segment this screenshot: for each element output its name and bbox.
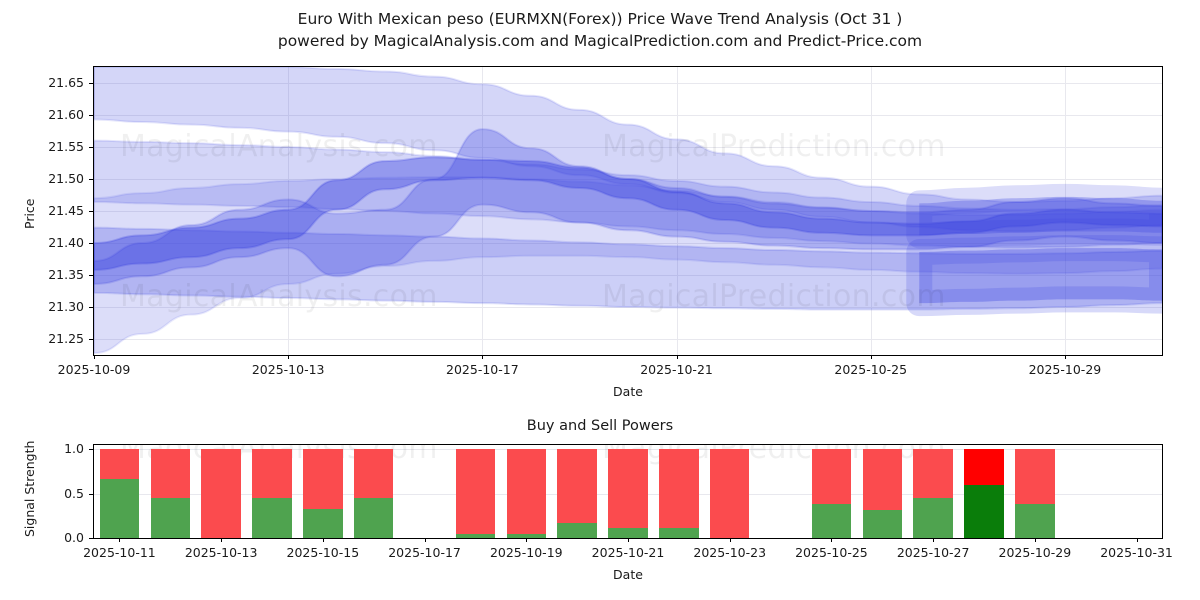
price-y-tick-mark bbox=[89, 147, 93, 148]
sell-power-segment bbox=[863, 449, 903, 509]
signal-bar[interactable] bbox=[100, 449, 140, 538]
sell-power-segment bbox=[913, 449, 953, 498]
buy-power-segment bbox=[354, 498, 394, 538]
price-y-tick-mark bbox=[89, 211, 93, 212]
signal-x-tick-mark bbox=[933, 538, 934, 542]
signal-x-tick-mark bbox=[221, 538, 222, 542]
signal-x-tick-label: 2025-10-15 bbox=[287, 545, 360, 560]
buy-power-segment bbox=[964, 485, 1004, 538]
price-x-tick-label: 2025-10-17 bbox=[446, 362, 519, 377]
signal-chart-title: Buy and Sell Powers bbox=[0, 418, 1200, 434]
buy-power-segment bbox=[812, 504, 852, 538]
signal-bar[interactable] bbox=[913, 449, 953, 538]
price-x-tick-mark bbox=[288, 355, 289, 359]
signal-bar[interactable] bbox=[252, 449, 292, 538]
page-title: Euro With Mexican peso (EURMXN(Forex)) P… bbox=[0, 8, 1200, 30]
sell-power-segment bbox=[507, 449, 547, 534]
price-y-tick-label: 21.65 bbox=[48, 75, 84, 90]
price-x-tick-label: 2025-10-29 bbox=[1029, 362, 1102, 377]
buy-power-segment bbox=[303, 509, 343, 538]
buy-power-segment bbox=[863, 510, 903, 538]
signal-x-tick-label: 2025-10-19 bbox=[490, 545, 563, 560]
price-wave-chart-plot-area: MagicalAnalysis.com MagicalPrediction.co… bbox=[93, 66, 1163, 356]
sell-power-segment bbox=[303, 449, 343, 508]
buy-power-segment bbox=[913, 498, 953, 538]
chart-title-block: Euro With Mexican peso (EURMXN(Forex)) P… bbox=[0, 8, 1200, 52]
sell-power-segment bbox=[710, 449, 750, 538]
price-y-tick-label: 21.55 bbox=[48, 139, 84, 154]
sell-power-segment bbox=[456, 449, 496, 534]
price-y-tick-label: 21.60 bbox=[48, 107, 84, 122]
signal-bar[interactable] bbox=[557, 449, 597, 538]
signal-y-tick-label: 1.0 bbox=[64, 441, 84, 456]
signal-bar[interactable] bbox=[710, 449, 750, 538]
signal-x-tick-mark bbox=[730, 538, 731, 542]
signal-x-tick-mark bbox=[119, 538, 120, 542]
price-y-tick-mark bbox=[89, 243, 93, 244]
sell-power-segment bbox=[1015, 449, 1055, 504]
price-y-tick-label: 21.30 bbox=[48, 299, 84, 314]
signal-x-tick-label: 2025-10-31 bbox=[1100, 545, 1173, 560]
price-x-axis-label: Date bbox=[613, 384, 643, 399]
price-x-tick-label: 2025-10-25 bbox=[834, 362, 907, 377]
price-y-tick-mark bbox=[89, 275, 93, 276]
signal-x-tick-mark bbox=[628, 538, 629, 542]
buy-power-segment bbox=[1015, 504, 1055, 538]
price-x-tick-mark bbox=[1065, 355, 1066, 359]
buy-power-segment bbox=[659, 528, 699, 538]
signal-bar[interactable] bbox=[812, 449, 852, 538]
price-x-tick-label: 2025-10-13 bbox=[252, 362, 325, 377]
buy-power-segment bbox=[608, 528, 648, 538]
signal-x-tick-mark bbox=[1035, 538, 1036, 542]
buy-power-segment bbox=[456, 534, 496, 538]
signal-x-tick-label: 2025-10-27 bbox=[897, 545, 970, 560]
signal-y-tick-mark bbox=[89, 449, 93, 450]
signal-bar[interactable] bbox=[964, 449, 1004, 538]
sell-power-segment bbox=[557, 449, 597, 523]
signal-bar[interactable] bbox=[456, 449, 496, 538]
signal-bar[interactable] bbox=[507, 449, 547, 538]
signal-bar[interactable] bbox=[201, 449, 241, 538]
signal-x-tick-mark bbox=[526, 538, 527, 542]
price-x-tick-mark bbox=[94, 355, 95, 359]
price-y-tick-mark bbox=[89, 83, 93, 84]
buy-power-segment bbox=[100, 479, 140, 538]
signal-x-tick-mark bbox=[1137, 538, 1138, 542]
signal-x-tick-label: 2025-10-21 bbox=[592, 545, 665, 560]
price-y-tick-label: 21.45 bbox=[48, 203, 84, 218]
signal-x-tick-mark bbox=[831, 538, 832, 542]
signal-y-tick-mark bbox=[89, 538, 93, 539]
signal-y-tick-mark bbox=[89, 494, 93, 495]
signal-bar[interactable] bbox=[863, 449, 903, 538]
price-y-tick-mark bbox=[89, 339, 93, 340]
signal-bar[interactable] bbox=[151, 449, 191, 538]
sell-power-segment bbox=[252, 449, 292, 498]
price-x-tick-mark bbox=[871, 355, 872, 359]
price-y-tick-mark bbox=[89, 115, 93, 116]
wave-band-right-lower-lobe bbox=[919, 248, 1162, 303]
wave-band-right-upper-lobe bbox=[919, 197, 1162, 235]
price-x-tick-mark bbox=[482, 355, 483, 359]
signal-bars-container: MagicalAnalysis.comMagicalPrediction.com bbox=[94, 445, 1162, 538]
signal-y-axis-label: Signal Strength bbox=[22, 440, 37, 536]
sell-power-segment bbox=[964, 449, 1004, 484]
signal-bar[interactable] bbox=[1015, 449, 1055, 538]
price-y-tick-mark bbox=[89, 179, 93, 180]
buy-sell-powers-plot-area: MagicalAnalysis.comMagicalPrediction.com bbox=[93, 444, 1163, 539]
sell-power-segment bbox=[812, 449, 852, 504]
signal-y-tick-label: 0.5 bbox=[64, 486, 84, 501]
price-x-tick-mark bbox=[677, 355, 678, 359]
signal-x-tick-label: 2025-10-17 bbox=[388, 545, 461, 560]
sell-power-segment bbox=[151, 449, 191, 498]
signal-y-tick-label: 0.0 bbox=[64, 530, 84, 545]
signal-bar[interactable] bbox=[659, 449, 699, 538]
signal-x-tick-label: 2025-10-25 bbox=[795, 545, 868, 560]
buy-power-segment bbox=[252, 498, 292, 538]
price-y-tick-label: 21.40 bbox=[48, 235, 84, 250]
signal-x-tick-mark bbox=[425, 538, 426, 542]
signal-x-tick-label: 2025-10-23 bbox=[693, 545, 766, 560]
buy-power-segment bbox=[151, 498, 191, 538]
price-x-tick-label: 2025-10-21 bbox=[640, 362, 713, 377]
signal-x-tick-label: 2025-10-11 bbox=[83, 545, 156, 560]
signal-bar[interactable] bbox=[303, 449, 343, 538]
signal-bar[interactable] bbox=[608, 449, 648, 538]
buy-power-segment bbox=[557, 523, 597, 538]
price-y-tick-label: 21.25 bbox=[48, 331, 84, 346]
page-subtitle: powered by MagicalAnalysis.com and Magic… bbox=[0, 30, 1200, 52]
sell-power-segment bbox=[608, 449, 648, 528]
signal-bar[interactable] bbox=[354, 449, 394, 538]
sell-power-segment bbox=[100, 449, 140, 478]
sell-power-segment bbox=[201, 449, 241, 538]
signal-x-tick-label: 2025-10-13 bbox=[185, 545, 258, 560]
sell-power-segment bbox=[354, 449, 394, 498]
price-y-tick-label: 21.35 bbox=[48, 267, 84, 282]
price-y-axis-label: Price bbox=[22, 199, 37, 230]
price-y-tick-label: 21.50 bbox=[48, 171, 84, 186]
signal-x-axis-label: Date bbox=[613, 567, 643, 582]
sell-power-segment bbox=[659, 449, 699, 528]
signal-x-tick-mark bbox=[323, 538, 324, 542]
price-x-tick-label: 2025-10-09 bbox=[58, 362, 131, 377]
price-y-tick-mark bbox=[89, 307, 93, 308]
signal-x-tick-label: 2025-10-29 bbox=[999, 545, 1072, 560]
price-wave-bands bbox=[94, 67, 1162, 355]
